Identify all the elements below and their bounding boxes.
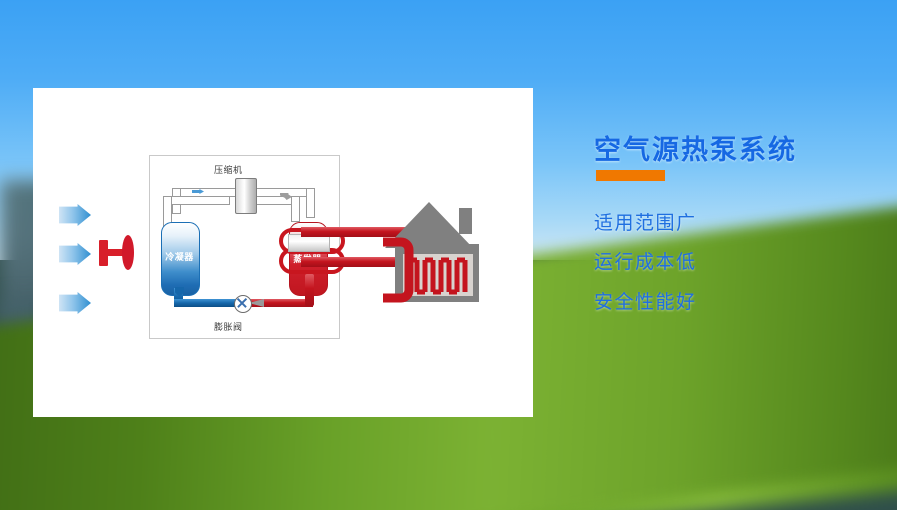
slide-stage: 压缩机 冷凝器 蒸发器	[0, 0, 897, 510]
house-graphic	[381, 196, 497, 304]
compressor-label: 压缩机	[214, 163, 243, 176]
suction-line-top-left	[164, 196, 230, 205]
expansion-valve-icon	[234, 295, 252, 313]
fan-blade-icon	[122, 235, 134, 270]
liquid-line-horizontal	[174, 299, 238, 307]
page-title: 空气源热泵系统	[594, 128, 797, 167]
expansion-valve-label: 膨胀阀	[214, 320, 243, 333]
fan-icon	[99, 240, 108, 266]
feature-bullet-2: 安全性能好	[594, 287, 697, 314]
house-icon	[381, 196, 497, 304]
hot-line-up	[305, 274, 314, 306]
air-flow-arrow-icon	[59, 243, 91, 265]
air-flow-arrow-icon	[59, 292, 91, 314]
diagram-panel: 压缩机 冷凝器 蒸发器	[33, 88, 533, 417]
title-accent-bar	[596, 170, 665, 181]
feature-bullet-0: 适用范围广	[594, 208, 697, 235]
compressor-icon	[235, 178, 257, 214]
feature-bullet-1: 运行成本低	[594, 247, 697, 274]
refrigeration-cycle-frame: 压缩机 冷凝器 蒸发器	[149, 155, 340, 339]
air-flow-arrow-icon	[59, 204, 91, 226]
discharge-line-down-right	[306, 188, 315, 218]
suction-line-down-right	[291, 196, 300, 222]
condenser-label: 冷凝器	[161, 250, 198, 263]
